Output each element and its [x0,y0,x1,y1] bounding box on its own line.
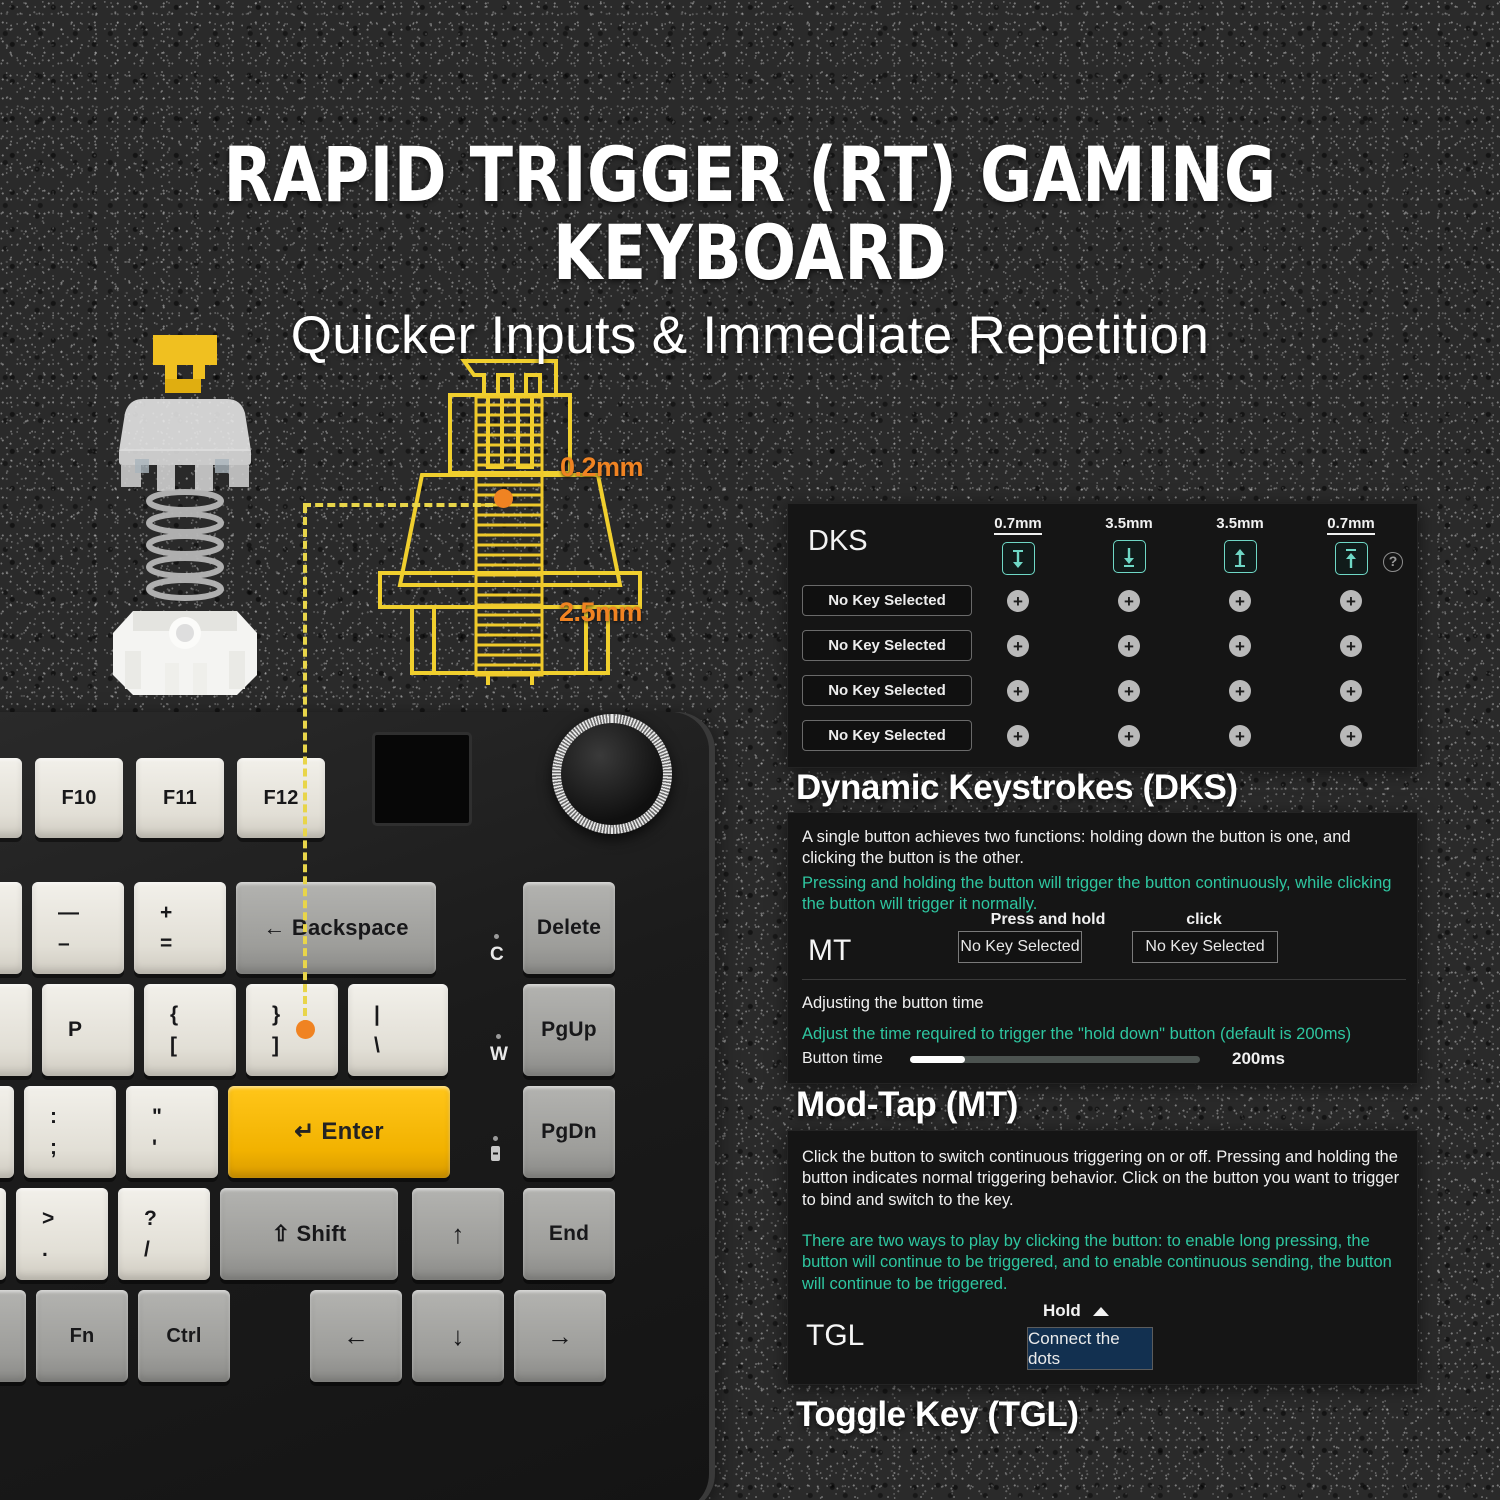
key-ctrl[interactable]: Ctrl [138,1290,230,1382]
key-quote-top: " [152,1105,162,1128]
arrow-down-to-bar-icon[interactable] [1113,540,1146,573]
chevron-up-icon[interactable] [1093,1307,1109,1316]
key-l[interactable]: L [0,1086,14,1178]
page-subtitle: Quicker Inputs & Immediate Repetition [0,305,1500,366]
dks-col-1-depth: 0.7mm [994,515,1042,535]
key-bracket-left-top: { [170,1003,178,1026]
key-pgdn[interactable]: PgDn [523,1086,615,1178]
dks-add-button[interactable]: + [1340,590,1362,612]
dks-col-3-depth: 3.5mm [1216,515,1264,532]
key-backslash[interactable]: |\ [348,984,448,1076]
mt-column-press-hold: Press and hold [968,911,1128,929]
help-icon[interactable]: ? [1383,552,1403,572]
key-period-top: > [42,1207,54,1230]
key-p-left[interactable] [0,984,32,1076]
indicator-connection: C [490,934,504,966]
battery-icon [491,1146,500,1161]
key-backslash-bottom: \ [374,1034,380,1057]
mt-field-press-hold[interactable]: No Key Selected [958,931,1082,963]
indicator-pip-icon [494,934,499,939]
tgl-panel: Click the button to switch continuous tr… [787,1130,1418,1385]
key-enter[interactable]: ↵ Enter [228,1086,450,1178]
key-bracket-left-bottom: [ [170,1034,177,1057]
dks-panel: DKS 0.7mm 3.5mm 3.5mm 0.7mm ? No Key Sel… [787,503,1418,768]
key-0[interactable]: )0 [0,882,22,974]
keycap-point-marker [296,1020,315,1039]
dks-title: DKS [808,525,868,558]
section-heading-mt: Mod-Tap (MT) [796,1085,1018,1125]
section-heading-dks: Dynamic Keystrokes (DKS) [796,768,1238,808]
key-backslash-top: | [374,1003,380,1026]
key-end[interactable]: End [523,1188,615,1280]
mt-adjust-description: Adjust the time required to trigger the … [802,1024,1406,1045]
dks-add-button[interactable]: + [1007,725,1029,747]
dks-add-button[interactable]: + [1229,590,1251,612]
key-slash-bottom: / [144,1238,150,1261]
dks-column-3: 3.5mm [1195,515,1285,573]
actuation-point-marker [494,489,513,508]
mt-button-time-row: Button time 200ms [802,1049,1406,1069]
oled-display [372,732,472,826]
key-minus-bottom: – [58,932,70,955]
indicator-pip-icon [493,1136,498,1141]
key-f11[interactable]: F11 [136,758,224,838]
key-arrow-right[interactable]: → [514,1290,606,1382]
key-period-bottom: . [42,1238,48,1261]
arrow-down-from-bar-icon[interactable] [1002,542,1035,575]
rotary-knob[interactable] [552,714,672,834]
indicator-pip-icon [496,1034,501,1039]
key-backspace[interactable]: ← Backspace [236,882,436,974]
key-period[interactable]: >. [16,1188,108,1280]
indicator-wireless: W [490,1034,508,1066]
key-arrow-down[interactable]: ↓ [412,1290,504,1382]
dks-add-button[interactable]: + [1118,725,1140,747]
key-alt[interactable]: Alt [0,1290,26,1382]
switch-schematic-diagram [360,355,660,685]
key-f12[interactable]: F12 [237,758,325,838]
dks-column-4: 0.7mm [1306,515,1396,575]
key-semicolon-top: : [50,1105,57,1128]
key-shift[interactable]: ⇧ Shift [220,1188,398,1280]
dks-add-button[interactable]: + [1007,590,1029,612]
tgl-hold-row[interactable]: Hold [1043,1301,1109,1321]
dks-add-button[interactable]: + [1229,635,1251,657]
connector-line-horizontal [303,503,493,507]
mt-label: MT [808,934,851,968]
key-comma[interactable] [0,1188,6,1280]
dks-key-field-2[interactable]: No Key Selected [802,630,972,661]
key-f10[interactable]: F10 [35,758,123,838]
dks-add-button[interactable]: + [1118,635,1140,657]
mt-slider-value: 200ms [1232,1049,1285,1069]
key-p-top: P [68,1018,82,1041]
dks-add-button[interactable]: + [1007,635,1029,657]
key-delete[interactable]: Delete [523,882,615,974]
dks-col-2-depth: 3.5mm [1105,515,1153,532]
key-equal-bottom: = [160,932,172,955]
dks-column-1: 0.7mm [973,515,1063,575]
mt-divider [802,979,1406,980]
key-bracket-left[interactable]: {[ [144,984,236,1076]
key-semicolon-bottom: ; [50,1136,57,1159]
keyboard-photo: F9 F10 F11 F12 )0 —– += ← Backspace P {[… [0,712,715,1500]
dks-add-button[interactable]: + [1340,725,1362,747]
mt-slider-label: Button time [802,1050,910,1068]
section-heading-tgl: Toggle Key (TGL) [796,1395,1079,1435]
key-slash-top: ? [144,1207,157,1230]
arrow-up-to-bar-icon[interactable] [1335,542,1368,575]
key-arrow-up[interactable]: ↑ [412,1188,504,1280]
switch-exploded-view [95,333,275,698]
arrow-up-from-bar-icon[interactable] [1224,540,1257,573]
dks-add-button[interactable]: + [1118,680,1140,702]
switch-top-housing-icon [119,399,251,491]
key-quote[interactable]: "' [126,1086,218,1178]
tgl-hold-label: Hold [1043,1301,1081,1321]
key-bracket-right-top: } [272,1003,280,1026]
key-minus[interactable]: —– [32,882,124,974]
key-fn[interactable]: Fn [36,1290,128,1382]
tgl-description-teal: There are two ways to play by clicking t… [802,1231,1406,1295]
key-quote-bottom: ' [152,1136,157,1159]
mt-slider-fill [910,1056,965,1063]
mt-button-time-slider[interactable] [910,1056,1200,1063]
key-arrow-left[interactable]: ← [310,1290,402,1382]
switch-spring-icon [149,492,221,598]
indicator-label-w: W [490,1044,508,1065]
key-p[interactable]: P [42,984,134,1076]
page-title: RAPID TRIGGER (RT) GAMING KEYBOARD [53,136,1448,291]
switch-bottom-housing-icon [113,611,257,695]
dks-add-button[interactable]: + [1340,680,1362,702]
dks-add-button[interactable]: + [1340,635,1362,657]
key-bracket-right[interactable]: }] [246,984,338,1076]
dks-column-2: 3.5mm [1084,515,1174,573]
dks-add-button[interactable]: + [1229,725,1251,747]
key-semicolon[interactable]: :; [24,1086,116,1178]
key-bracket-right-bottom: ] [272,1034,279,1057]
title-block: RAPID TRIGGER (RT) GAMING KEYBOARD Quick… [0,136,1500,366]
key-pgup[interactable]: PgUp [523,984,615,1076]
mt-description-teal: Pressing and holding the button will tri… [802,873,1406,916]
indicator-battery [491,1136,500,1165]
key-minus-top: — [58,901,79,924]
dks-key-field-3[interactable]: No Key Selected [802,675,972,706]
tgl-description-white: Click the button to switch continuous tr… [802,1147,1406,1211]
key-equal-top: + [160,901,172,924]
mt-adjust-title: Adjusting the button time [802,993,1406,1014]
mt-column-click: click [1144,911,1264,929]
key-equal[interactable]: += [134,882,226,974]
dimension-label-actuation: 0.2mm [560,452,643,483]
connector-line-vertical [303,505,307,1028]
dks-add-button[interactable]: + [1229,680,1251,702]
tgl-connect-dots-button[interactable]: Connect the dots [1027,1327,1153,1370]
dimension-label-travel: 2.5mm [559,597,642,628]
mt-description-white: A single button achieves two functions: … [802,827,1406,870]
mt-panel: A single button achieves two functions: … [787,812,1418,1084]
tgl-label: TGL [806,1319,864,1353]
dks-col-4-depth: 0.7mm [1327,515,1375,535]
dks-key-field-4[interactable]: No Key Selected [802,720,972,751]
dks-key-field-1[interactable]: No Key Selected [802,585,972,616]
dks-add-button[interactable]: + [1007,680,1029,702]
dks-add-button[interactable]: + [1118,590,1140,612]
indicator-label-c: C [490,944,504,965]
mt-field-click[interactable]: No Key Selected [1132,931,1278,963]
key-slash[interactable]: ?/ [118,1188,210,1280]
key-f9[interactable]: F9 [0,758,22,838]
